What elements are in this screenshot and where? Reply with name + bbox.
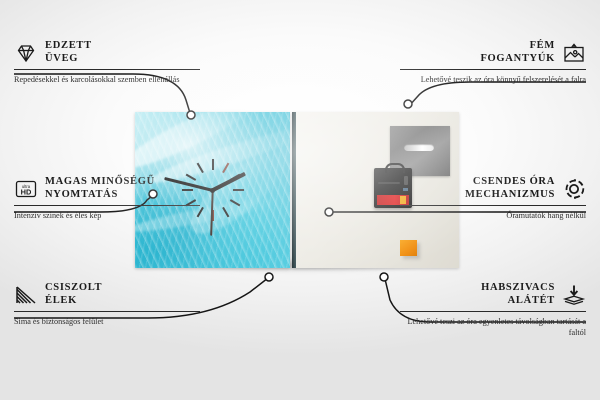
feature-title: FÉM FOGANTYÚK [480,40,555,65]
feature-metal-handles[interactable]: FÉM FOGANTYÚK Lehetővé teszik az óra kön… [400,40,586,85]
foam-spacer-pad [400,240,417,256]
feature-title: CSENDES ÓRA MECHANIZMUS [465,176,555,201]
divider [14,205,200,206]
infographic-canvas: EDZETT ÜVEG Repedésekkel és karcolásokka… [0,0,600,400]
feature-description: Lehetővé teszi az óra egyenletes távolsá… [400,316,586,338]
polished-edge-icon [14,283,38,307]
diamond-icon [14,41,38,65]
divider [400,311,586,312]
panel-edge [292,112,296,268]
feature-tempered-glass[interactable]: EDZETT ÜVEG Repedésekkel és karcolásokka… [14,40,200,85]
movement-seam [378,182,400,184]
divider [400,205,586,206]
hand-pin [210,188,215,193]
divider [14,69,200,70]
ultra-hd-badge-icon: ultra HD [14,177,38,201]
feature-description: Óramutatók hang nélkül [400,210,586,221]
feature-description: Lehetővé teszik az óra könnyű felszerelé… [400,74,586,85]
divider [14,311,200,312]
feature-title: CSISZOLT ÉLEK [45,282,102,307]
feature-high-quality-print[interactable]: ultra HD MAGAS MINŐSÉGŰ NYOMTATÁS Intenz… [14,176,200,221]
picture-hanger-icon [562,41,586,65]
movement-hook [385,163,405,173]
feature-description: Intenzív színek és éles kép [14,210,200,221]
hanger-slot [404,144,434,151]
svg-text:HD: HD [21,187,32,196]
feature-title: HABSZIVACS ALÁTÉT [481,282,555,307]
divider [400,69,586,70]
feature-description: Sima és biztonságos felület [14,316,200,327]
gear-icon [562,177,586,201]
feature-foam-spacer[interactable]: HABSZIVACS ALÁTÉT Lehetővé teszi az óra … [400,282,586,338]
feature-description: Repedésekkel és karcolásokkal szemben el… [14,74,200,85]
feature-silent-mechanism[interactable]: CSENDES ÓRA MECHANIZMUS Óramutatók hang … [400,176,586,221]
foam-pad-arrow-icon [562,283,586,307]
feature-polished-edges[interactable]: CSISZOLT ÉLEK Sima és biztonságos felüle… [14,282,200,327]
feature-title: EDZETT ÜVEG [45,40,92,65]
feature-title: MAGAS MINŐSÉGŰ NYOMTATÁS [45,176,155,201]
